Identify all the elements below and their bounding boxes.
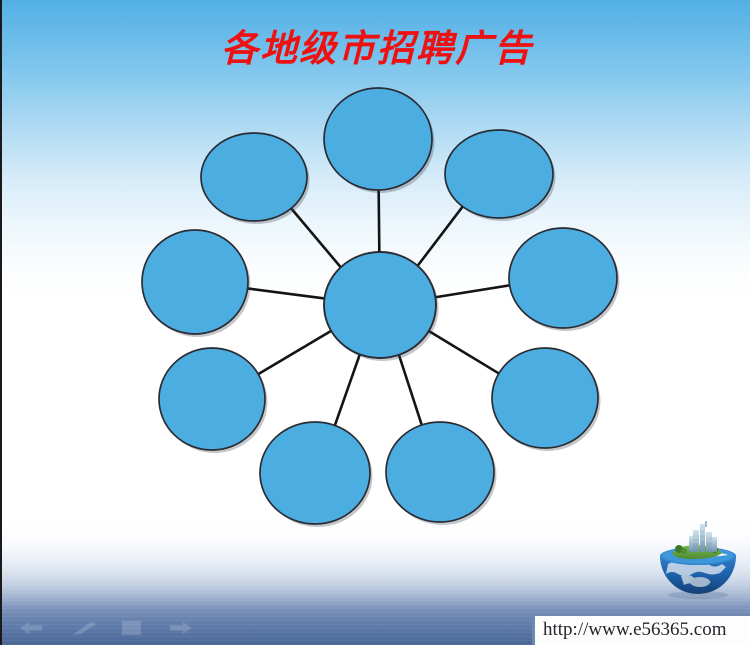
spoke-line xyxy=(435,285,509,297)
satellite-circle-6[interactable] xyxy=(260,422,370,524)
hub-circle[interactable] xyxy=(324,252,436,358)
satellite-circle-8[interactable] xyxy=(142,230,248,334)
spoke-line xyxy=(399,355,422,425)
satellite-circle-4[interactable] xyxy=(492,348,598,448)
hub-node xyxy=(324,252,439,361)
spoke-line xyxy=(258,331,331,374)
satellite-circle-9[interactable] xyxy=(201,133,307,221)
watermark-url: http://www.e56365.com xyxy=(535,616,750,644)
spoke-line xyxy=(418,207,463,266)
satellite-circle-2[interactable] xyxy=(445,130,553,218)
hub-and-spoke-diagram xyxy=(2,0,750,645)
spoke-line xyxy=(248,288,325,298)
spoke-line xyxy=(335,354,360,425)
spoke-line xyxy=(429,331,499,373)
earth-city-globe-image xyxy=(648,520,748,602)
slide-canvas: 各地级市招聘广告 xyxy=(0,0,750,645)
satellite-circle-5[interactable] xyxy=(386,422,494,522)
satellite-circle-7[interactable] xyxy=(159,348,265,450)
spoke-line xyxy=(291,208,341,267)
watermark-bar: http://www.e56365.com xyxy=(532,616,750,645)
spoke-line xyxy=(379,190,380,252)
satellite-circle-3[interactable] xyxy=(509,228,617,328)
satellite-circle-1[interactable] xyxy=(324,88,432,190)
